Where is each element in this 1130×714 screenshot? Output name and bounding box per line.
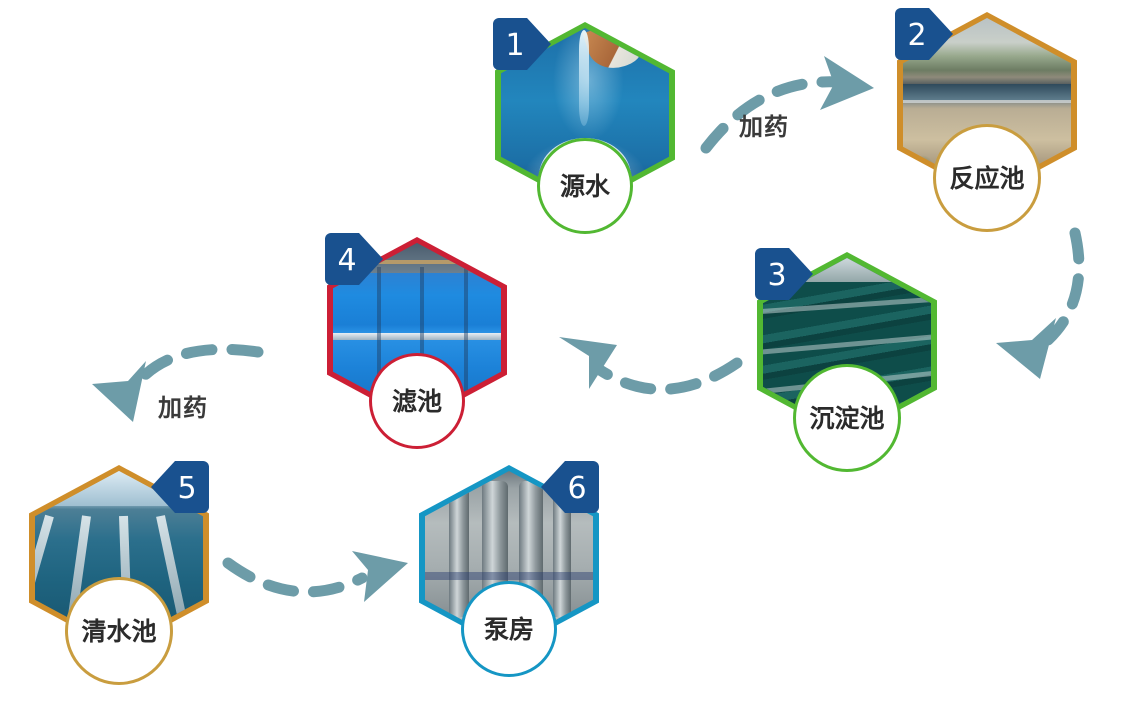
step-number-6: 6 [567, 471, 586, 506]
connector-3-to-4 [559, 337, 737, 389]
node-label-4: 滤池 [392, 389, 442, 414]
step-badge-5: 5 [149, 459, 211, 515]
connector-5-to-6 [228, 551, 408, 602]
step-badge-4: 4 [323, 231, 385, 287]
node-label-6: 泵房 [484, 617, 534, 642]
node-label-3: 沉淀池 [809, 406, 884, 431]
node-label-1: 源水 [560, 174, 610, 199]
node-label-circle-3[interactable]: 沉淀池 [793, 364, 901, 472]
connector-1-to-2 [706, 56, 874, 148]
process-node-6[interactable]: 6 泵房 [419, 465, 599, 680]
node-label-circle-5[interactable]: 清水池 [65, 577, 173, 685]
process-node-5[interactable]: 5 清水池 [29, 465, 209, 680]
node-label-circle-2[interactable]: 反应池 [933, 124, 1041, 232]
process-flow-diagram: .dash { fill: none; stroke: #6d9ca8; str… [0, 0, 1130, 714]
flow-label-dosing-2: 加药 [158, 388, 208, 423]
step-number-2: 2 [907, 18, 926, 53]
process-node-2[interactable]: 2 反应池 [897, 12, 1077, 227]
step-number-4: 4 [337, 243, 356, 278]
node-label-circle-6[interactable]: 泵房 [461, 581, 557, 677]
node-label-circle-1[interactable]: 源水 [537, 138, 633, 234]
node-label-5: 清水池 [81, 619, 156, 644]
flow-label-dosing-1: 加药 [739, 107, 789, 142]
step-number-3: 3 [767, 258, 786, 293]
process-node-4[interactable]: 4 滤池 [327, 237, 507, 452]
step-badge-6: 6 [539, 459, 601, 515]
node-label-circle-4[interactable]: 滤池 [369, 353, 465, 449]
step-badge-1: 1 [491, 16, 553, 72]
connector-2-to-3 [996, 233, 1079, 379]
step-number-1: 1 [505, 28, 524, 63]
node-label-2: 反应池 [949, 166, 1024, 191]
step-number-5: 5 [177, 471, 196, 506]
step-badge-2: 2 [893, 6, 955, 62]
step-badge-3: 3 [753, 246, 815, 302]
process-node-3[interactable]: 3 沉淀池 [757, 252, 937, 467]
process-node-1[interactable]: 1 源水 [495, 22, 675, 237]
